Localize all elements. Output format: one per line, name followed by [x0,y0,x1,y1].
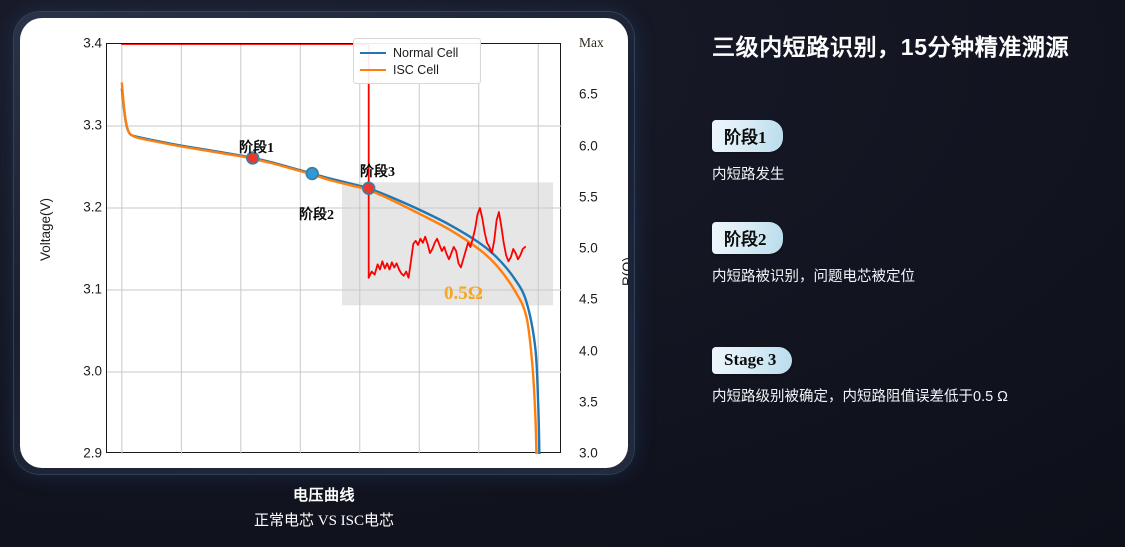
y-tick-right: 5.0 [579,241,598,256]
stage-badge-2: 阶段2 [712,222,783,254]
y-axis-right-label: R(Ω) [620,257,628,286]
y-tick-right: 5.5 [579,190,598,205]
info-panel: 三级内短路识别，15分钟精准溯源 阶段1 内短路发生 阶段2 内短路被识别，问题… [690,0,1125,547]
stage-desc-3: 内短路级别被确定，内短路阻值误差低于0.5 Ω [712,385,1112,406]
y-tick-right: 4.0 [579,344,598,359]
legend-line-icon [360,52,386,54]
annotation-resistance: 0.5Ω [444,283,483,305]
x-tick: 6000 [472,466,502,468]
y-tick-right: 6.0 [579,139,598,154]
stage-block-1: 阶段1 内短路发生 [712,120,1112,184]
chart-panel: 3.4 3.3 3.2 3.1 3.0 2.9 Voltage(V) Max 6… [20,18,628,468]
x-axis: 0 1000 2000 3000 4000 5000 6000 7000 [20,455,628,468]
x-tick: 4000 [350,466,380,468]
page-root: 3.4 3.3 3.2 3.1 3.0 2.9 Voltage(V) Max 6… [0,0,1125,547]
y-tick-left: 3.1 [83,282,102,297]
page-title: 三级内短路识别，15分钟精准溯源 [712,28,1069,62]
stage-block-2: 阶段2 内短路被识别，问题电芯被定位 [712,222,1112,286]
stage-badge-1: 阶段1 [712,120,783,152]
y-axis-left: 3.4 3.3 3.2 3.1 3.0 2.9 [20,18,102,468]
y-tick-left: 3.4 [83,36,102,51]
legend-label: ISC Cell [393,63,439,77]
plot-area [106,43,561,453]
stage-desc-2: 内短路被识别，问题电芯被定位 [712,265,1112,286]
y-tick-right: 3.5 [579,395,598,410]
caption-line-1: 电压曲线 [14,484,634,505]
y-tick-left: 3.3 [83,118,102,133]
annotation-stage3: 阶段3 [360,161,395,181]
caption-line-2: 正常电芯 VS ISC电芯 [14,509,634,530]
y-axis-left-label: Voltage(V) [38,198,53,261]
stage-desc-1: 内短路发生 [712,163,1112,184]
x-tick: 3000 [289,466,319,468]
y-tick-right: 4.5 [579,292,598,307]
y-axis-right: Max 6.5 6.0 5.5 5.0 4.5 4.0 3.5 3.0 [565,18,625,468]
x-tick: 0 [117,466,125,468]
y-tick-right-max: Max [579,35,604,51]
annotation-stage1: 阶段1 [239,137,274,157]
legend-item-normal-cell: Normal Cell [360,44,473,61]
x-tick: 7000 [533,466,563,468]
y-tick-left: 3.2 [83,200,102,215]
stage-badge-3: Stage 3 [712,347,792,374]
legend-item-isc-cell: ISC Cell [360,61,473,78]
y-tick-right: 6.5 [579,87,598,102]
chart-svg [107,44,562,454]
legend-label: Normal Cell [393,46,458,60]
chart-legend: Normal Cell ISC Cell [353,38,481,84]
chart-caption: 电压曲线 正常电芯 VS ISC电芯 [14,484,634,530]
x-tick: 1000 [167,466,197,468]
x-tick: 5000 [411,466,441,468]
y-tick-left: 3.0 [83,364,102,379]
annotation-stage2: 阶段2 [299,204,334,224]
x-tick: 2000 [228,466,258,468]
chart-card: 3.4 3.3 3.2 3.1 3.0 2.9 Voltage(V) Max 6… [14,12,634,474]
stage-block-3: Stage 3 内短路级别被确定，内短路阻值误差低于0.5 Ω [712,347,1112,406]
legend-line-icon [360,69,386,71]
